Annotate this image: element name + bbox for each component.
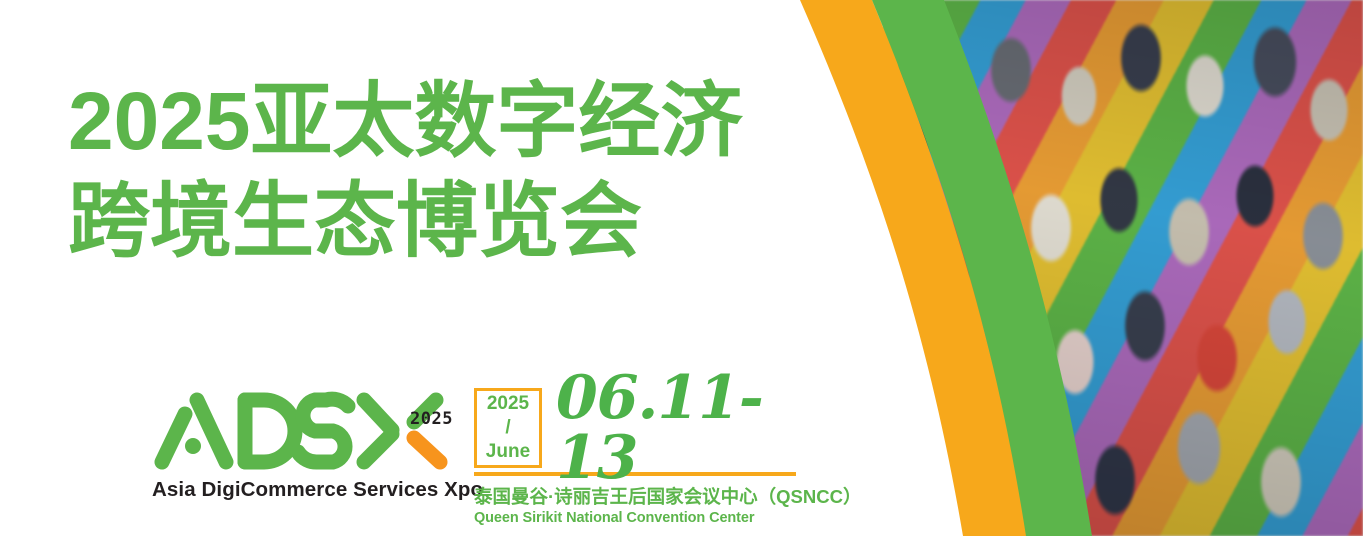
banner-content: 2025亚太数字经济 跨境生态博览会: [0, 0, 820, 536]
date-separator: /: [505, 416, 510, 440]
exhibition-photo: [883, 0, 1363, 536]
photo-overlay: [883, 0, 1363, 536]
venue-name-en: Queen Sirikit National Convention Center: [474, 510, 804, 526]
date-row: 2025 / June 06.11-13: [474, 386, 804, 470]
event-title-line-2: 跨境生态博览会: [68, 172, 742, 272]
event-banner: 2025亚太数字经济 跨境生态博览会: [0, 0, 1363, 536]
event-title: 2025亚太数字经济 跨境生态博览会: [68, 72, 742, 272]
adsx-logo-mark: 2025: [152, 388, 452, 474]
date-year: 2025: [487, 392, 529, 416]
date-range: 06.11-13: [556, 368, 804, 488]
adsx-logo: 2025 Asia DigiCommerce Services Xpo: [152, 388, 452, 502]
date-month: June: [486, 440, 530, 464]
adsx-a-dot: [185, 438, 201, 454]
adsx-wordmark-icon: 2025: [152, 388, 452, 474]
event-title-line-1: 2025亚太数字经济: [68, 76, 742, 167]
venue-name-cn: 泰国曼谷·诗丽吉王后国家会议中心（QSNCC）: [474, 483, 804, 509]
date-venue-block: 2025 / June 06.11-13 泰国曼谷·诗丽吉王后国家会议中心（QS…: [474, 386, 804, 526]
year-month-box: 2025 / June: [474, 388, 542, 468]
adsx-tagline: Asia DigiCommerce Services Xpo: [152, 478, 452, 502]
adsx-badge-year: 2025: [410, 409, 452, 429]
adsx-x-orange-stroke: [414, 438, 440, 462]
